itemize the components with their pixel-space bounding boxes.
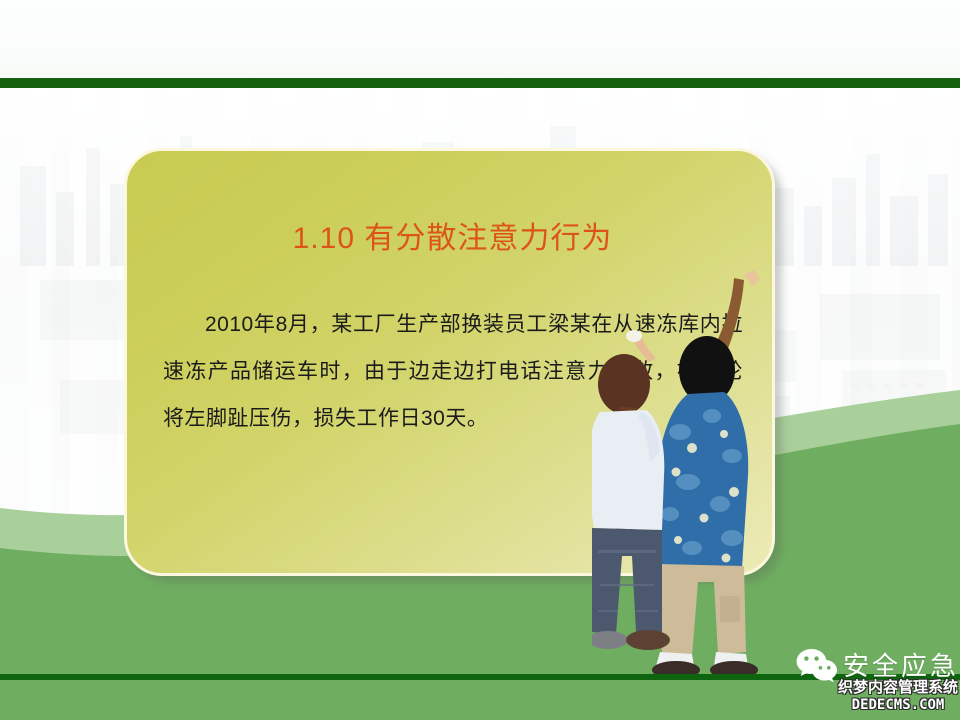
top-white-band xyxy=(0,0,960,78)
slide-canvas: 1.10 有分散注意力行为 2010年8月，某工厂生产部换装员工梁某在从速冻库内… xyxy=(0,0,960,720)
card-title: 1.10 有分散注意力行为 xyxy=(127,213,775,257)
top-green-rule xyxy=(0,78,960,88)
photo-two-children xyxy=(592,266,812,686)
figure-girl xyxy=(592,330,670,650)
brand-label: 安全应急 xyxy=(843,646,959,683)
figure-boy xyxy=(652,270,760,679)
wechat-icon xyxy=(795,646,839,686)
footer-brand: 安全应急 xyxy=(795,644,955,690)
